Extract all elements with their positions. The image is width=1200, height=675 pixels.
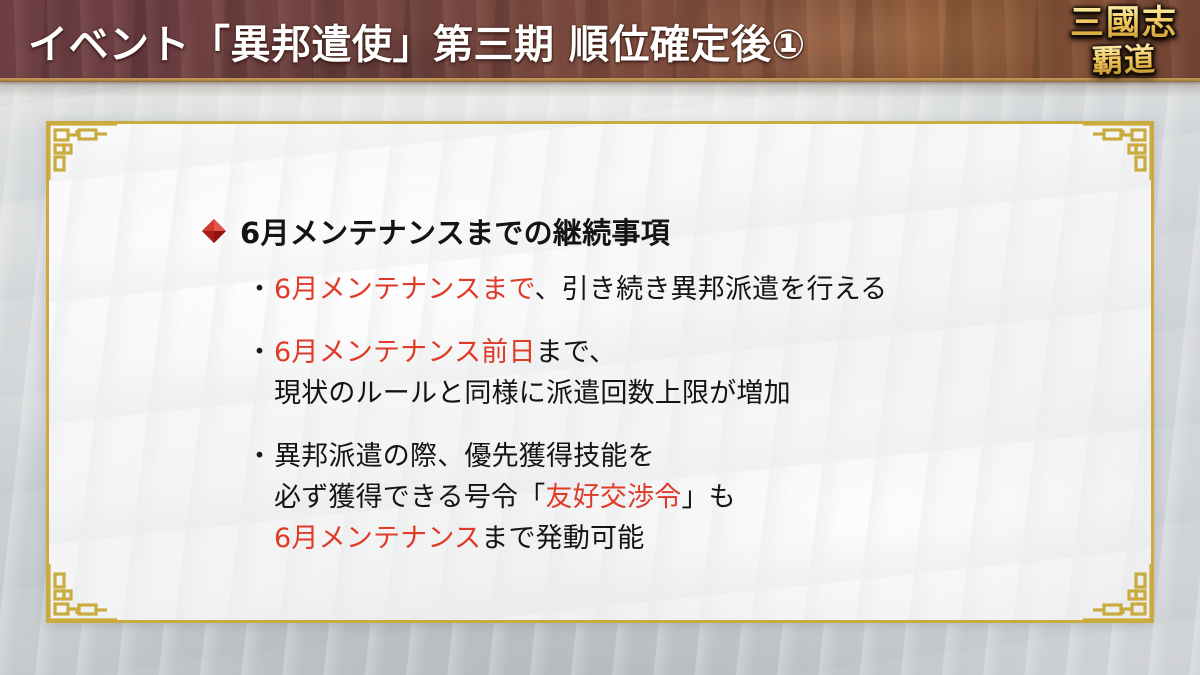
body-text: 現状のルールと同様に派遣回数上限が増加 [274, 378, 791, 409]
bullet-line: 異邦派遣の際、優先獲得技能を [274, 436, 1151, 477]
bullet-text-block: 6月メンテナンスまで、引き続き異邦派遣を行える [274, 269, 1151, 310]
bullet-item: ・異邦派遣の際、優先獲得技能を必ず獲得できる号令「友好交渉令」も6月メンテナンス… [246, 436, 1151, 559]
body-text: 」も [681, 482, 735, 513]
content-panel: 6月メンテナンスまでの継続事項 ・6月メンテナンスまで、引き続き異邦派遣を行える… [46, 121, 1154, 623]
bullet-line: 6月メンテナンス前日まで、 [274, 332, 1151, 373]
bullet-line: 6月メンテナンスまで発動可能 [274, 518, 1151, 559]
body-text: まで、 [536, 337, 617, 368]
game-logo: 三國志 覇道 [1062, 4, 1186, 104]
section-heading-text: 6月メンテナンスまでの継続事項 [240, 210, 670, 252]
bullet-line: 6月メンテナンスまで、引き続き異邦派遣を行える [274, 269, 1151, 310]
body-text: 必ず獲得できる号令「 [274, 482, 545, 513]
highlighted-text: 6月メンテナンス前日 [274, 337, 536, 368]
logo-title-sub: 覇道 [1061, 42, 1186, 80]
body-text: 異邦派遣の際、優先獲得技能を [274, 441, 655, 472]
bullet-list: ・6月メンテナンスまで、引き続き異邦派遣を行える・6月メンテナンス前日まで、現状… [246, 269, 1151, 559]
bullet-text-block: 異邦派遣の際、優先獲得技能を必ず獲得できる号令「友好交渉令」も6月メンテナンスま… [274, 436, 1151, 559]
logo-title-main: 三國志 [1062, 4, 1186, 42]
highlighted-text: 6月メンテナンス [274, 523, 481, 554]
highlighted-text: 6月メンテナンスまで [274, 274, 535, 305]
panel-content: 6月メンテナンスまでの継続事項 ・6月メンテナンスまで、引き続き異邦派遣を行える… [49, 124, 1151, 620]
body-text: 、引き続き異邦派遣を行える [535, 274, 888, 305]
bullet-text-block: 6月メンテナンス前日まで、現状のルールと同様に派遣回数上限が増加 [274, 332, 1151, 414]
highlighted-text: 友好交渉令 [545, 482, 681, 513]
bullet-marker: ・ [246, 332, 273, 373]
section-heading: 6月メンテナンスまでの継続事項 [199, 210, 1151, 252]
bullet-marker: ・ [246, 269, 273, 310]
slide-root: イベント「異邦遣使」第三期 順位確定後① 三國志 覇道 [0, 0, 1200, 675]
bullet-marker: ・ [246, 436, 273, 477]
bullet-line: 現状のルールと同様に派遣回数上限が増加 [274, 373, 1151, 414]
bullet-item: ・6月メンテナンスまで、引き続き異邦派遣を行える [246, 269, 1151, 310]
header-banner: イベント「異邦遣使」第三期 順位確定後① [0, 0, 1200, 82]
body-text: まで発動可能 [481, 523, 644, 554]
page-title: イベント「異邦遣使」第三期 順位確定後① [28, 8, 806, 74]
bullet-line: 必ず獲得できる号令「友好交渉令」も [274, 477, 1151, 518]
header-underline [0, 78, 1200, 82]
red-diamond-icon [199, 216, 229, 246]
bullet-item: ・6月メンテナンス前日まで、現状のルールと同様に派遣回数上限が増加 [246, 332, 1151, 414]
